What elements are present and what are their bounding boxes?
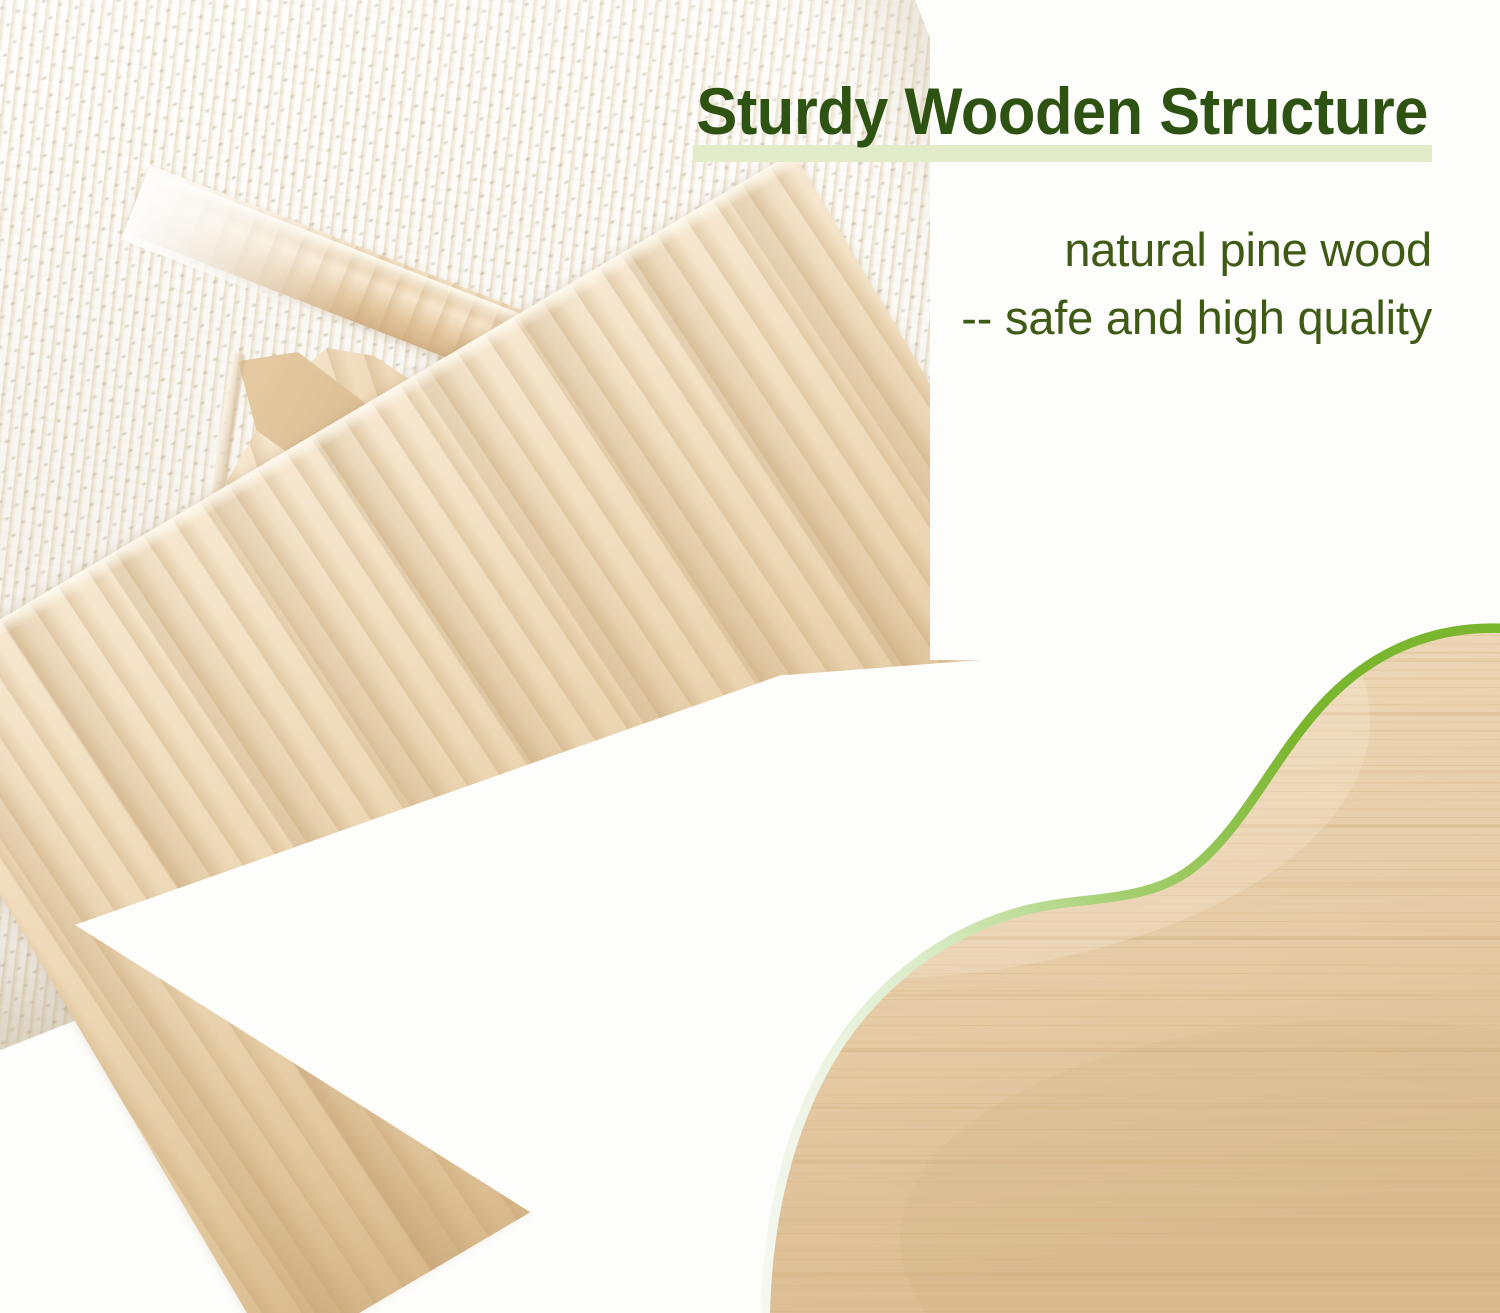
headline-block: Sturdy Wooden Structure [472, 78, 1432, 144]
product-photograph [0, 0, 1500, 1313]
subheadline-line-1: natural pine wood [472, 216, 1432, 284]
cloud-board-wood-face [600, 600, 1500, 1313]
product-feature-image: Sturdy Wooden Structure natural pine woo… [0, 0, 1500, 1313]
subheadline-line-2: -- safe and high quality [472, 284, 1432, 352]
cloud-board-svg [600, 600, 1500, 1313]
page-title: Sturdy Wooden Structure [693, 78, 1432, 144]
cloud-shaped-pine-board [600, 600, 1500, 1313]
headline-text: Sturdy Wooden Structure [697, 74, 1429, 148]
subheadline-block: natural pine wood -- safe and high quali… [472, 216, 1432, 351]
